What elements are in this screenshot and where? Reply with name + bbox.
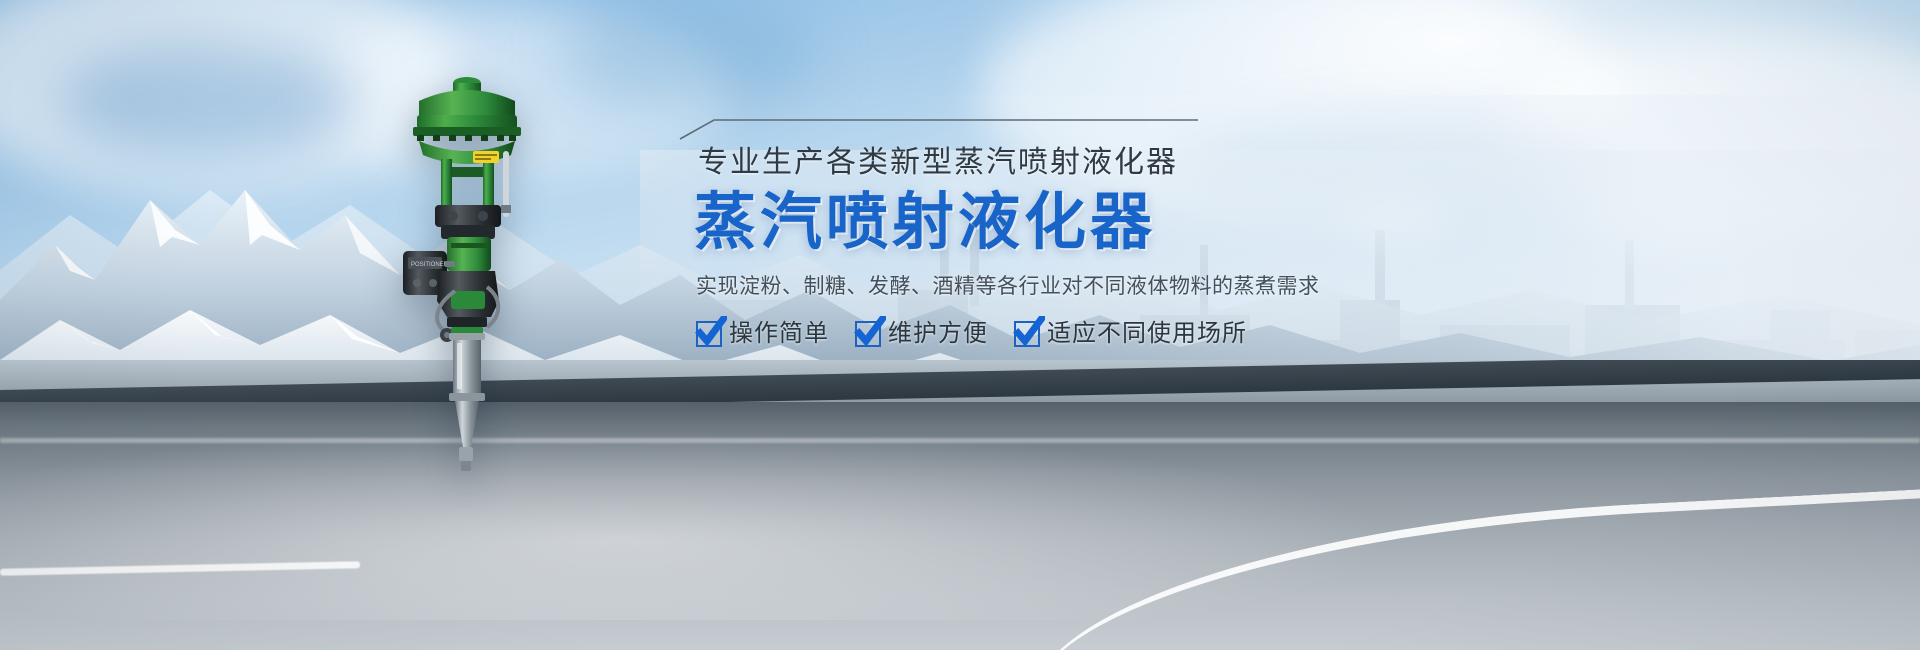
feature-badge-label: 适应不同使用场所 [1047,322,1247,346]
feature-badge: 适应不同使用场所 [1014,321,1247,347]
product-image-control-valve: POSITIONER [395,55,575,475]
feature-badge: 维护方便 [855,321,988,347]
feature-badge-label: 维护方便 [888,322,988,346]
banner-text-block: 专业生产各类新型蒸汽喷射液化器 蒸汽喷射液化器 实现淀粉、制糖、发酵、酒精等各行… [680,118,1320,347]
check-icon [855,321,881,347]
asphalt-road [0,360,1920,650]
feature-badge-label: 操作简单 [729,322,829,346]
hero-banner: POSITIONER [0,0,1920,650]
svg-text:POSITIONER: POSITIONER [411,262,449,268]
feature-badge-list: 操作简单 维护方便 适应不同使用场所 [696,321,1320,347]
decorative-line-top [680,118,1320,140]
banner-title: 蒸汽喷射液化器 [694,192,1320,254]
feature-badge: 操作简单 [696,321,829,347]
check-icon [696,321,722,347]
road-shoulder-line [0,438,1920,443]
cloud [560,0,820,110]
banner-tagline: 专业生产各类新型蒸汽喷射液化器 [698,148,1320,178]
banner-description: 实现淀粉、制糖、发酵、酒精等各行业对不同液体物料的蒸煮需求 [696,276,1320,297]
check-icon [1014,321,1040,347]
